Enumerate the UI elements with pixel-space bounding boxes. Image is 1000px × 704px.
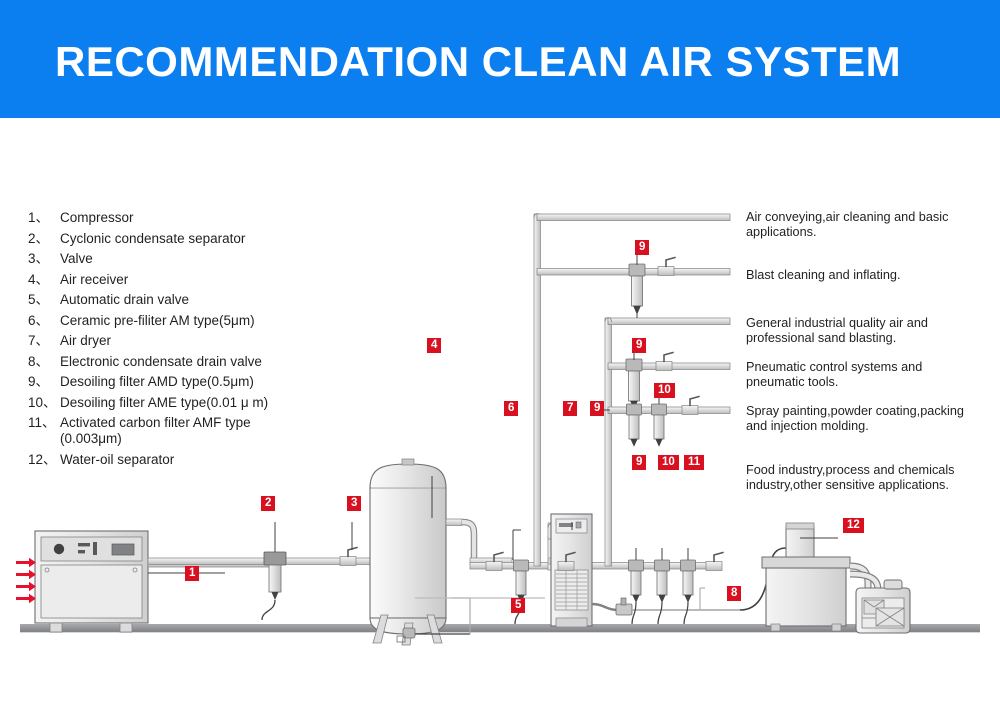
legend-item-7: 7、 Air dryer xyxy=(28,333,328,349)
legend-item-3: 3、 Valve xyxy=(28,251,328,267)
callout-badge-9d: 9 xyxy=(632,455,646,470)
legend-item-10: 10、 Desoiling filter AME type(0.01 μ m) xyxy=(28,395,328,411)
callout-badge-6: 6 xyxy=(504,401,518,416)
callout-badge-11: 11 xyxy=(684,455,704,470)
callout-badge-9c: 9 xyxy=(590,401,604,416)
legend-item-9: 9、 Desoiling filter AMD type(0.5μm) xyxy=(28,374,328,390)
callout-badge-2: 2 xyxy=(261,496,275,511)
callout-badge-5: 5 xyxy=(511,598,525,613)
legend-number: 10、 xyxy=(28,395,60,411)
desoiling-filter-amd-level2 xyxy=(629,250,675,314)
callout-badge-8: 8 xyxy=(727,586,741,601)
diagram-canvas: 1、 Compressor 2、 Cyclonic condensate sep… xyxy=(0,118,1000,704)
callout-badge-10a: 10 xyxy=(654,383,675,398)
legend-item-11: 11、 Activated carbon filter AMF type (0.… xyxy=(28,415,328,447)
air-intake-arrows xyxy=(16,558,36,603)
legend-number: 5、 xyxy=(28,292,60,308)
callout-badge-4: 4 xyxy=(427,338,441,353)
legend-number: 6、 xyxy=(28,313,60,329)
legend-number: 2、 xyxy=(28,231,60,247)
page-title: RECOMMENDATION CLEAN AIR SYSTEM xyxy=(55,38,901,86)
compressor xyxy=(16,531,273,632)
legend-number: 7、 xyxy=(28,333,60,349)
application-note: Spray painting,powder coating,packing an… xyxy=(746,404,996,434)
filter-triplet-main xyxy=(629,548,724,624)
legend-number: 12、 xyxy=(28,452,60,468)
air-dryer xyxy=(548,514,592,627)
legend-number: 8、 xyxy=(28,354,60,370)
air-receiver xyxy=(370,459,512,645)
legend-item-8: 8、 Electronic condensate drain valve xyxy=(28,354,328,370)
legend-label: Air dryer xyxy=(60,333,111,349)
legend-number: 4、 xyxy=(28,272,60,288)
legend-label: Air receiver xyxy=(60,272,128,288)
application-note: General industrial quality air and profe… xyxy=(746,316,996,346)
legend-item-4: 4、 Air receiver xyxy=(28,272,328,288)
legend-number: 9、 xyxy=(28,374,60,390)
legend-number: 11、 xyxy=(28,415,60,431)
legend-item-1: 1、 Compressor xyxy=(28,210,328,226)
legend-label: Valve xyxy=(60,251,93,267)
application-note: Blast cleaning and inflating. xyxy=(746,268,996,283)
desoiling-filter-amd-level3 xyxy=(626,348,673,409)
callout-badge-10b: 10 xyxy=(658,455,679,470)
callout-badge-3: 3 xyxy=(347,496,361,511)
legend-item-5: 5、 Automatic drain valve xyxy=(28,292,328,308)
legend-number: 3、 xyxy=(28,251,60,267)
callout-badge-9a: 9 xyxy=(635,240,649,255)
application-note: Food industry,process and chemicals indu… xyxy=(746,463,996,493)
callout-badge-7: 7 xyxy=(563,401,577,416)
legend-label: Ceramic pre-filiter AM type(5μm) xyxy=(60,313,255,329)
cyclonic-condensate-separator xyxy=(262,522,286,620)
legend-list: 1、 Compressor 2、 Cyclonic condensate sep… xyxy=(28,210,328,472)
callout-badge-12: 12 xyxy=(843,518,864,533)
legend-label: Activated carbon filter AMF type (0.003μ… xyxy=(60,415,251,447)
page-header: RECOMMENDATION CLEAN AIR SYSTEM xyxy=(0,0,1000,118)
legend-label: Cyclonic condensate separator xyxy=(60,231,245,247)
application-note: Pneumatic control systems and pneumatic … xyxy=(746,360,996,390)
legend-item-6: 6、 Ceramic pre-filiter AM type(5μm) xyxy=(28,313,328,329)
legend-label: Electronic condensate drain valve xyxy=(60,354,262,370)
filter-pair-level4 xyxy=(598,393,699,446)
legend-item-12: 12、 Water-oil separator xyxy=(28,452,328,468)
air-distribution-piping xyxy=(470,214,730,570)
legend-label: Desoiling filter AME type(0.01 μ m) xyxy=(60,395,268,411)
callout-badge-9b: 9 xyxy=(632,338,646,353)
legend-number: 1、 xyxy=(28,210,60,226)
legend-label: Compressor xyxy=(60,210,134,226)
legend-label: Desoiling filter AMD type(0.5μm) xyxy=(60,374,254,390)
callout-badge-1: 1 xyxy=(185,566,199,581)
legend-label: Water-oil separator xyxy=(60,452,174,468)
oil-collection-can xyxy=(856,580,910,633)
legend-item-2: 2、 Cyclonic condensate separator xyxy=(28,231,328,247)
legend-label: Automatic drain valve xyxy=(60,292,189,308)
valve-3 xyxy=(340,522,357,566)
application-note: Air conveying,air cleaning and basic app… xyxy=(746,210,996,240)
